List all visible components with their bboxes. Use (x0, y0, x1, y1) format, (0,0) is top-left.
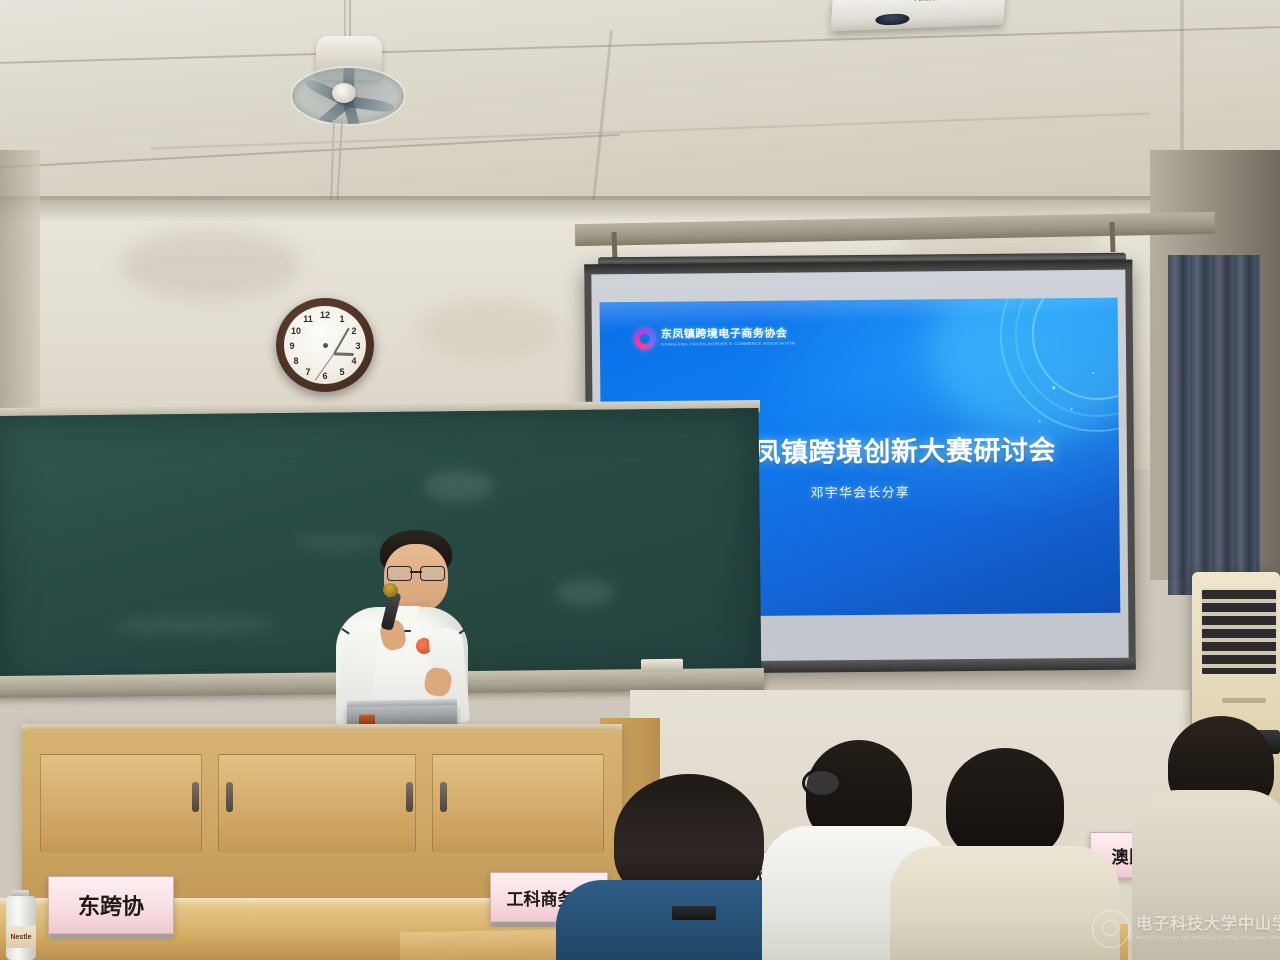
clock-number: 3 (352, 341, 364, 351)
clock-center-pin (323, 343, 328, 348)
attendee-1-collar-tag (672, 906, 716, 920)
attendee-4-shirt (1132, 790, 1280, 960)
window-curtain (1168, 255, 1260, 595)
classroom-seminar-photo: Panasonic (0, 0, 1280, 960)
clock-number: 5 (336, 367, 348, 377)
attendee-3-shirt (890, 846, 1120, 960)
left-wall-corner (0, 150, 40, 410)
bottle-label: Nestle (6, 926, 36, 948)
clock-number: 4 (348, 356, 360, 366)
attendee-2-glasses-icon (802, 768, 842, 798)
wall-stain (120, 230, 300, 300)
ceiling-slab-line (1180, 0, 1184, 170)
clock-number: 12 (319, 310, 331, 320)
clock-number: 8 (290, 356, 302, 366)
ac-vent-grille (1200, 588, 1278, 676)
clock-minute-hand (333, 327, 350, 354)
clock-number: 10 (290, 326, 302, 336)
clock-number: 11 (302, 314, 314, 324)
clock-hour-hand (334, 352, 354, 356)
projector-brand-label: Panasonic (915, 0, 946, 3)
attendee-3-head (946, 748, 1064, 860)
placard-label: 东跨协 (78, 889, 144, 921)
chalkboard-eraser (641, 659, 683, 672)
ac-brand-strip (1222, 698, 1266, 703)
beam-hanger (1109, 222, 1115, 252)
clock-number: 7 (302, 367, 314, 377)
wall-stain (420, 300, 560, 360)
wall-clock: 12 1 2 3 4 5 6 7 8 9 10 11 (276, 298, 374, 392)
fan-hub (332, 83, 356, 103)
name-placard-1: 东跨协 (48, 876, 174, 934)
clock-number: 9 (286, 341, 298, 351)
projector-lens-icon (875, 13, 910, 25)
clock-number: 1 (336, 314, 348, 324)
presenter-glasses-icon (387, 566, 445, 579)
